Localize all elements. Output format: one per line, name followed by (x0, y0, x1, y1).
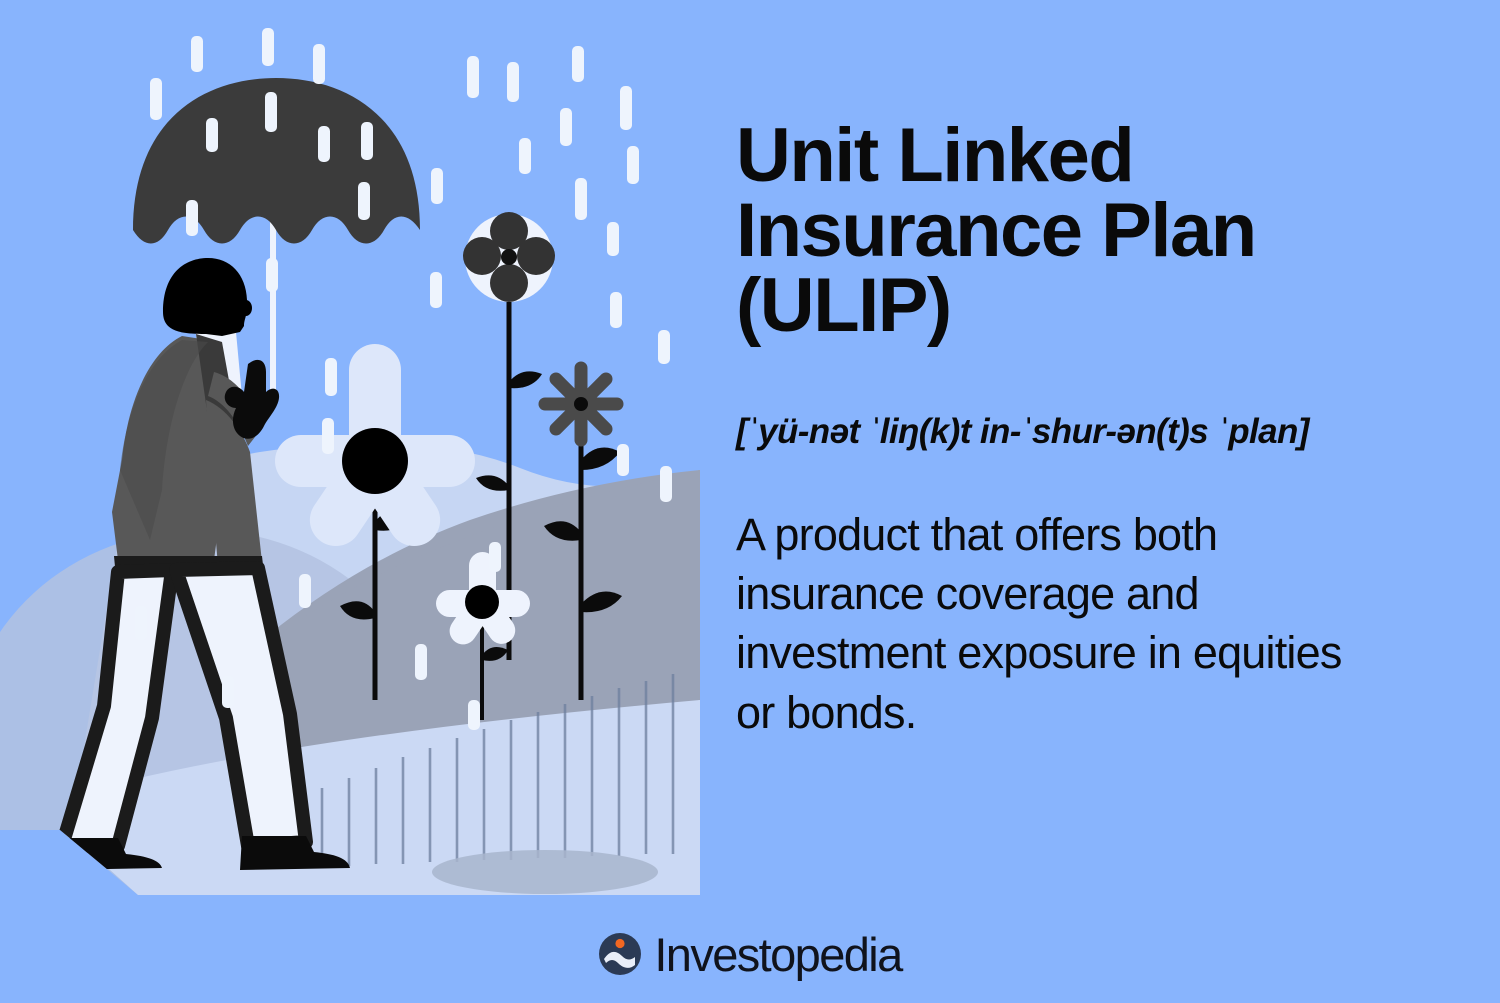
illustration-canvas (0, 0, 700, 910)
term-definition: A product that offers both insurance cov… (736, 452, 1386, 743)
investopedia-wordmark: Investopedia (654, 931, 901, 978)
flower-center (342, 428, 408, 494)
investopedia-brand: Investopedia (0, 925, 1500, 983)
infographic-card: Unit Linked Insurance Plan (ULIP) [ˈyü-n… (0, 0, 1500, 1003)
flower-center (465, 585, 499, 619)
investopedia-logo-icon (598, 932, 642, 976)
puddle-shadow (432, 850, 658, 894)
umbrella-pole (270, 222, 276, 402)
illustration (0, 0, 700, 910)
term-title: Unit Linked Insurance Plan (ULIP) (736, 118, 1436, 344)
term-pronunciation: [ˈyü-nət ˈliŋ(k)t in-ˈshur-ən(t)s ˈplan] (736, 344, 1436, 452)
definition-text-column: Unit Linked Insurance Plan (ULIP) [ˈyü-n… (736, 118, 1436, 742)
ear (240, 300, 252, 316)
